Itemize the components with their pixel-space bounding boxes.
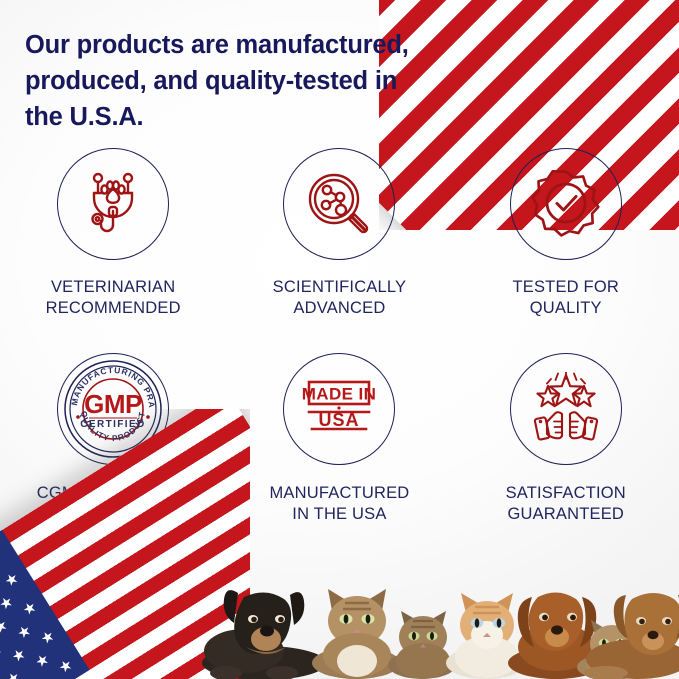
stamp-line-1: MADE IN — [302, 385, 377, 404]
badge-label: CGMP COMPLIANT — [37, 483, 190, 504]
seal-center-text: GMP — [84, 389, 142, 419]
flag-star: ★ — [0, 593, 16, 613]
flag-star: ★ — [0, 617, 11, 637]
pets-group-photo — [186, 551, 679, 679]
badge-circle — [57, 148, 169, 260]
badge-scientifically-advanced: SCIENTIFICALLY ADVANCED — [226, 148, 452, 319]
badge-label: SCIENTIFICALLY ADVANCED — [273, 277, 407, 319]
badge-label: TESTED FOR QUALITY — [512, 277, 619, 319]
flag-star: ★ — [4, 669, 23, 679]
flag-star: ★ — [56, 657, 75, 677]
magnifier-molecule-icon — [302, 167, 376, 241]
gmp-certified-seal-icon: GOOD MANUFACTURING PRACTICE QUALITY PROD… — [61, 357, 165, 461]
badge-grid: VETERINARIAN RECOMMENDED — [0, 148, 679, 525]
badge-label: MANUFACTURED IN THE USA — [269, 483, 409, 525]
flag-star: ★ — [0, 541, 3, 561]
flag-star: ★ — [33, 651, 52, 671]
seal-subtitle-text: CERTIFIED — [80, 419, 145, 430]
page-title-line-1: Our products are manufactured, — [25, 27, 495, 63]
stethoscope-paw-icon — [76, 167, 150, 241]
badge-cgmp-compliant: GOOD MANUFACTURING PRACTICE QUALITY PROD… — [0, 353, 226, 525]
badge-row-1: VETERINARIAN RECOMMENDED — [0, 148, 679, 319]
flag-star: ★ — [15, 622, 34, 642]
page-title-line-3: the U.S.A. — [25, 99, 495, 135]
badge-veterinarian-recommended: VETERINARIAN RECOMMENDED — [0, 148, 226, 319]
flag-star: ★ — [2, 570, 21, 590]
flag-star: ★ — [20, 599, 39, 619]
dogs-and-cats-illustration — [186, 551, 679, 679]
stamp-line-2: USA — [319, 410, 360, 430]
thumbs-up-stars-icon — [527, 372, 605, 446]
flag-star: ★ — [0, 640, 5, 660]
badge-circle — [510, 148, 622, 260]
made-in-usa-stamp-icon: MADE IN USA — [300, 372, 378, 446]
badge-circle — [510, 353, 622, 465]
flag-star: ★ — [38, 628, 57, 648]
badge-satisfaction-guaranteed: SATISFACTION GUARANTEED — [453, 353, 679, 525]
flag-canton: ★★★★★★★★★★★★★★★★★★★★★★★★★★★★★★★★★★★★★★★★… — [0, 530, 90, 679]
promo-banner: Our products are manufactured, produced,… — [0, 0, 679, 679]
badge-circle: MADE IN USA — [283, 353, 395, 465]
badge-label: VETERINARIAN RECOMMENDED — [46, 277, 181, 319]
badge-circle: GOOD MANUFACTURING PRACTICE QUALITY PROD… — [57, 353, 169, 465]
flag-star: ★ — [9, 646, 28, 666]
badge-tested-for-quality: TESTED FOR QUALITY — [453, 148, 679, 319]
page-title: Our products are manufactured, produced,… — [25, 27, 495, 135]
badge-circle — [283, 148, 395, 260]
badge-row-2: GOOD MANUFACTURING PRACTICE QUALITY PROD… — [0, 353, 679, 525]
rosette-check-icon — [529, 167, 603, 241]
badge-label: SATISFACTION GUARANTEED — [506, 483, 626, 525]
page-title-line-2: produced, and quality-tested in — [25, 63, 495, 99]
flag-star: ★ — [27, 675, 46, 679]
badge-manufactured-in-usa: MADE IN USA MANUFACTURED IN THE USA — [226, 353, 452, 525]
